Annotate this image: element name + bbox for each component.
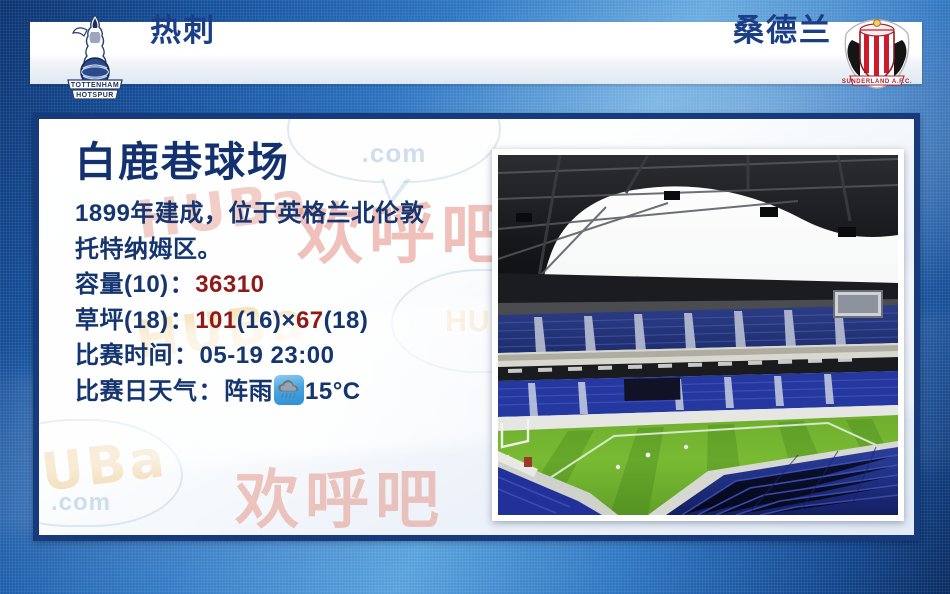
stat-kickoff: 比赛时间：05-19 23:00 (75, 338, 505, 374)
stat-weather-condition: 阵雨 (224, 378, 273, 405)
stat-weather: 比赛日天气：阵雨 15°C (75, 374, 505, 410)
stadium-info-card: TOTTENHAM HOTSPUR 热刺 桑德兰 (0, 0, 950, 594)
stat-pitch-length-rank: (16) (237, 307, 282, 334)
stat-kickoff-separator: ： (173, 342, 200, 369)
svg-text:SUNDERLAND A.F.C.: SUNDERLAND A.F.C. (842, 79, 912, 85)
stat-kickoff-label: 比赛时间 (75, 342, 173, 369)
stadium-photo-frame (492, 149, 904, 521)
svg-text:TOTTENHAM: TOTTENHAM (71, 82, 119, 89)
stat-pitch-separator: ： (169, 307, 196, 334)
stat-pitch-length: 101 (195, 307, 237, 334)
stat-capacity-label: 容量(10) (75, 271, 169, 298)
shower-rain-icon (274, 375, 304, 405)
stat-pitch-times: × (281, 307, 296, 334)
stadium-title: 白鹿巷球场 (75, 141, 505, 184)
away-team-name: 桑德兰 (733, 0, 832, 62)
stadium-description-line-1: 1899年建成，位于英格兰北伦敦 (75, 196, 505, 232)
watermark-huba-latin-bottom: HUBa (33, 429, 170, 510)
stat-kickoff-value: 05-19 23:00 (200, 342, 335, 369)
stat-capacity-separator: ： (169, 271, 196, 298)
stadium-photo (498, 155, 898, 515)
stadium-description-line-2: 托特纳姆区。 (75, 232, 505, 268)
home-team-name: 热刺 (150, 0, 216, 62)
watermark-huba-cn-bottom: 欢呼吧 (235, 449, 445, 541)
stat-capacity-value: 36310 (195, 271, 264, 298)
stat-pitch-width: 67 (296, 307, 324, 334)
watermark-bubble-bottom: .com (33, 419, 183, 527)
stat-pitch-label: 草坪(18) (75, 307, 169, 334)
stat-weather-temperature: 15°C (305, 378, 361, 405)
stadium-content-panel: .com HUBa 欢呼吧 HUBa HUBa .com HUBa 欢呼吧 白鹿… (33, 113, 920, 541)
stat-weather-separator: ： (198, 378, 225, 405)
svg-text:HOTSPUR: HOTSPUR (76, 92, 114, 99)
stat-capacity: 容量(10)：36310 (75, 267, 505, 303)
stat-weather-label: 比赛日天气 (75, 378, 198, 405)
sunderland-afc-crest-icon: SUNDERLAND A.F.C. (838, 18, 916, 90)
stat-pitch: 草坪(18)：101(16)×67(18) (75, 303, 505, 339)
stat-pitch-width-rank: (18) (324, 307, 369, 334)
tottenham-hotspur-crest-icon: TOTTENHAM HOTSPUR (62, 12, 128, 102)
watermark-bubble-bottom-text: .com (33, 489, 181, 517)
stadium-text-column: 白鹿巷球场 1899年建成，位于英格兰北伦敦 托特纳姆区。 容量(10)：363… (75, 141, 505, 409)
